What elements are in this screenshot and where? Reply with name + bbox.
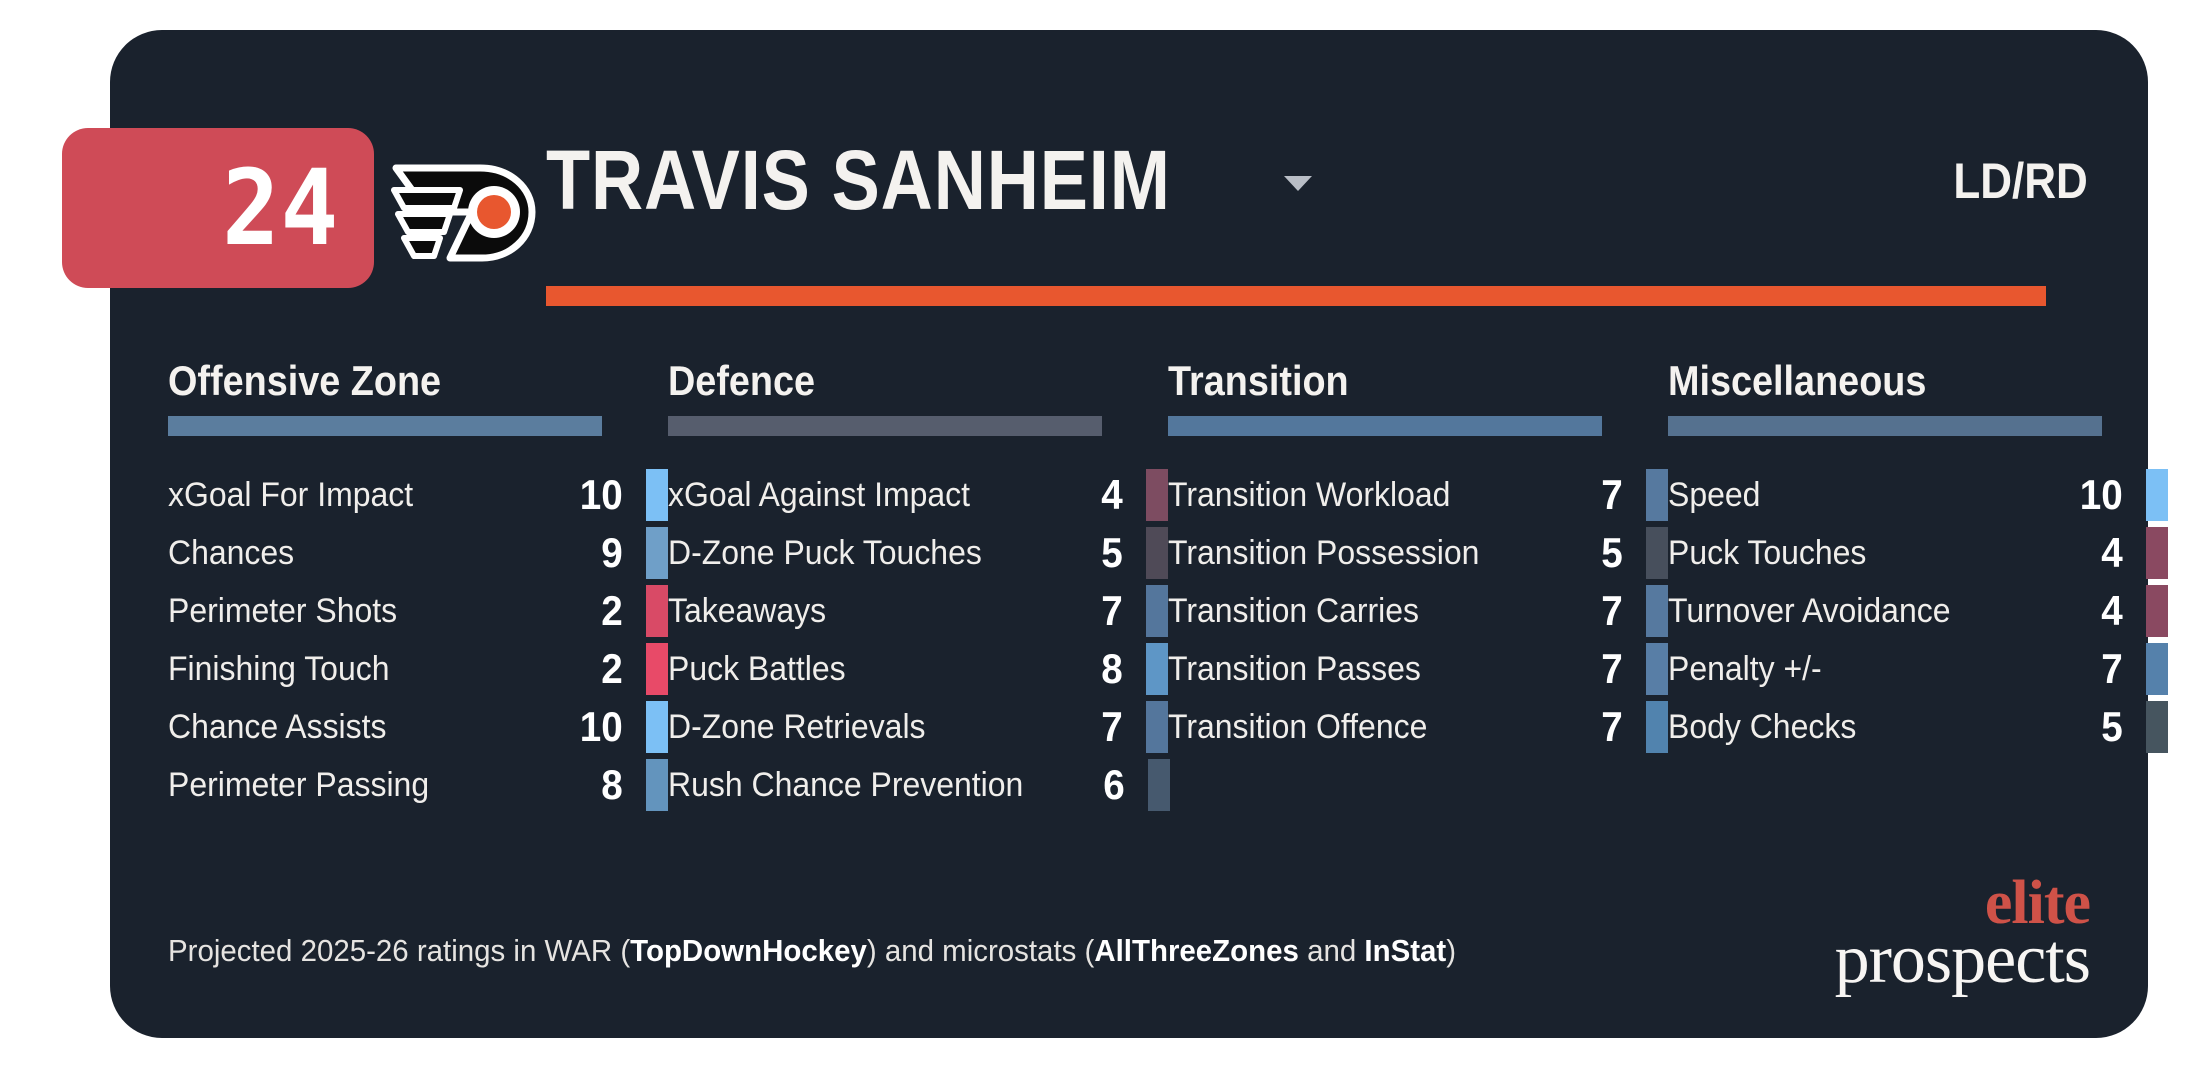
stat-column-bar (1168, 416, 1602, 436)
stat-value: 7 (1547, 590, 1622, 632)
stat-column-bar (668, 416, 1102, 436)
stat-row: Transition Possession5 (1168, 524, 1668, 582)
stat-value: 4 (2047, 590, 2122, 632)
stat-value: 6 (1049, 764, 1124, 806)
stat-row: xGoal Against Impact4 (668, 466, 1168, 524)
stat-row: Rush Chance Prevention6 (668, 756, 1168, 814)
stat-label: Chances (168, 536, 521, 570)
stat-rating-swatch (1148, 759, 1170, 811)
stat-value: 7 (1547, 474, 1622, 516)
card-header: 24 TRAVIS SANHEIM LD/RD (110, 30, 2148, 340)
stat-label: D-Zone Puck Touches (668, 536, 1021, 570)
jersey-number: 24 (222, 156, 339, 260)
stat-label: Transition Possession (1168, 536, 1521, 570)
stat-value: 5 (2047, 706, 2122, 748)
stat-label: Transition Offence (1168, 710, 1521, 744)
stat-value: 8 (1047, 648, 1122, 690)
stat-rating-swatch (1146, 585, 1168, 637)
stat-rating-swatch (646, 527, 668, 579)
stat-label: Takeaways (668, 594, 1021, 628)
stat-row: xGoal For Impact10 (168, 466, 668, 524)
stat-label: Finishing Touch (168, 652, 521, 686)
philadelphia-flyers-logo-icon (388, 150, 538, 270)
stat-row: Transition Carries7 (1168, 582, 1668, 640)
stat-rating-swatch (1146, 469, 1168, 521)
stat-rating-swatch (2146, 469, 2168, 521)
logo-prospects-text: prospects (1835, 930, 2090, 990)
stat-row: D-Zone Retrievals7 (668, 698, 1168, 756)
stat-value: 2 (547, 648, 622, 690)
stat-column: TransitionTransition Workload7Transition… (1168, 360, 1668, 814)
stat-label: D-Zone Retrievals (668, 710, 1021, 744)
stat-row: Penalty +/-7 (1668, 640, 2168, 698)
stat-column-title: Miscellaneous (1668, 360, 2118, 402)
stat-value: 7 (1047, 590, 1122, 632)
stat-row: Perimeter Shots2 (168, 582, 668, 640)
stat-label: xGoal For Impact (168, 478, 521, 512)
stat-row: Transition Passes7 (1168, 640, 1668, 698)
stat-row: Speed10 (1668, 466, 2168, 524)
stat-rating-swatch (646, 469, 668, 521)
stat-rating-swatch (1646, 469, 1668, 521)
stat-rating-swatch (2146, 585, 2168, 637)
stat-column: DefencexGoal Against Impact4D-Zone Puck … (668, 360, 1168, 814)
stat-row: Perimeter Passing8 (168, 756, 668, 814)
stat-rating-swatch (1146, 527, 1168, 579)
stat-label: Transition Carries (1168, 594, 1521, 628)
stat-row: Transition Offence7 (1168, 698, 1668, 756)
stat-value: 10 (547, 474, 622, 516)
stat-value: 4 (1047, 474, 1122, 516)
stat-column-bar (168, 416, 602, 436)
stat-column: MiscellaneousSpeed10Puck Touches4Turnove… (1668, 360, 2168, 814)
stat-label: Perimeter Passing (168, 768, 521, 802)
stat-label: Chance Assists (168, 710, 521, 744)
stat-column: Offensive ZonexGoal For Impact10Chances9… (168, 360, 668, 814)
stat-label: Penalty +/- (1668, 652, 2021, 686)
stat-value: 8 (547, 764, 622, 806)
stat-row: D-Zone Puck Touches5 (668, 524, 1168, 582)
stat-label: Puck Touches (1668, 536, 2021, 570)
stat-row: Finishing Touch2 (168, 640, 668, 698)
stat-label: Speed (1668, 478, 2021, 512)
stat-row: Turnover Avoidance4 (1668, 582, 2168, 640)
stat-rating-swatch (2146, 643, 2168, 695)
stat-value: 9 (547, 532, 622, 574)
stat-column-title: Defence (668, 360, 1118, 402)
footer-source-note: Projected 2025-26 ratings in WAR (TopDow… (168, 935, 1456, 966)
stat-row: Transition Workload7 (1168, 466, 1668, 524)
stat-value: 10 (2047, 474, 2122, 516)
player-position: LD/RD (1954, 152, 2088, 210)
stat-value: 7 (1047, 706, 1122, 748)
stat-row: Body Checks5 (1668, 698, 2168, 756)
stat-value: 4 (2047, 532, 2122, 574)
stat-columns: Offensive ZonexGoal For Impact10Chances9… (168, 360, 2100, 814)
stat-label: Turnover Avoidance (1668, 594, 2021, 628)
stat-label: Transition Passes (1168, 652, 1521, 686)
stat-column-title: Offensive Zone (168, 360, 618, 402)
stat-value: 7 (1547, 648, 1622, 690)
stat-label: Transition Workload (1168, 478, 1521, 512)
stat-rating-swatch (1146, 643, 1168, 695)
stat-value: 7 (1547, 706, 1622, 748)
team-accent-bar (546, 286, 2046, 306)
stat-rating-swatch (646, 759, 668, 811)
stat-column-title: Transition (1168, 360, 1618, 402)
stat-rating-swatch (1146, 701, 1168, 753)
stat-rating-swatch (646, 701, 668, 753)
chevron-down-icon[interactable] (1284, 176, 1312, 191)
stat-row: Chances9 (168, 524, 668, 582)
stat-value: 10 (547, 706, 622, 748)
elite-prospects-logo: elite prospects (1835, 877, 2090, 991)
stat-value: 5 (1547, 532, 1622, 574)
stat-label: Perimeter Shots (168, 594, 521, 628)
stat-rating-swatch (1646, 527, 1668, 579)
stat-value: 2 (547, 590, 622, 632)
stat-column-bar (1668, 416, 2102, 436)
stat-rating-swatch (1646, 643, 1668, 695)
stat-row: Chance Assists10 (168, 698, 668, 756)
stat-value: 5 (1047, 532, 1122, 574)
player-name-block: TRAVIS SANHEIM LD/RD (546, 138, 2088, 338)
stat-rating-swatch (646, 585, 668, 637)
stat-rating-swatch (2146, 527, 2168, 579)
stat-label: xGoal Against Impact (668, 478, 1021, 512)
stat-label: Body Checks (1668, 710, 2021, 744)
stat-rating-swatch (1646, 701, 1668, 753)
stat-row: Puck Battles8 (668, 640, 1168, 698)
stat-value: 7 (2047, 648, 2122, 690)
stat-rating-swatch (646, 643, 668, 695)
stat-label: Puck Battles (668, 652, 1021, 686)
stat-rating-swatch (1646, 585, 1668, 637)
stat-label: Rush Chance Prevention (668, 768, 1023, 802)
jersey-number-badge: 24 (62, 128, 374, 288)
stat-row: Puck Touches4 (1668, 524, 2168, 582)
stat-rating-swatch (2146, 701, 2168, 753)
player-stats-card: 24 TRAVIS SANHEIM LD/RD Offe (110, 30, 2148, 1038)
page-title: TRAVIS SANHEIM (546, 138, 1872, 222)
stat-row: Takeaways7 (668, 582, 1168, 640)
